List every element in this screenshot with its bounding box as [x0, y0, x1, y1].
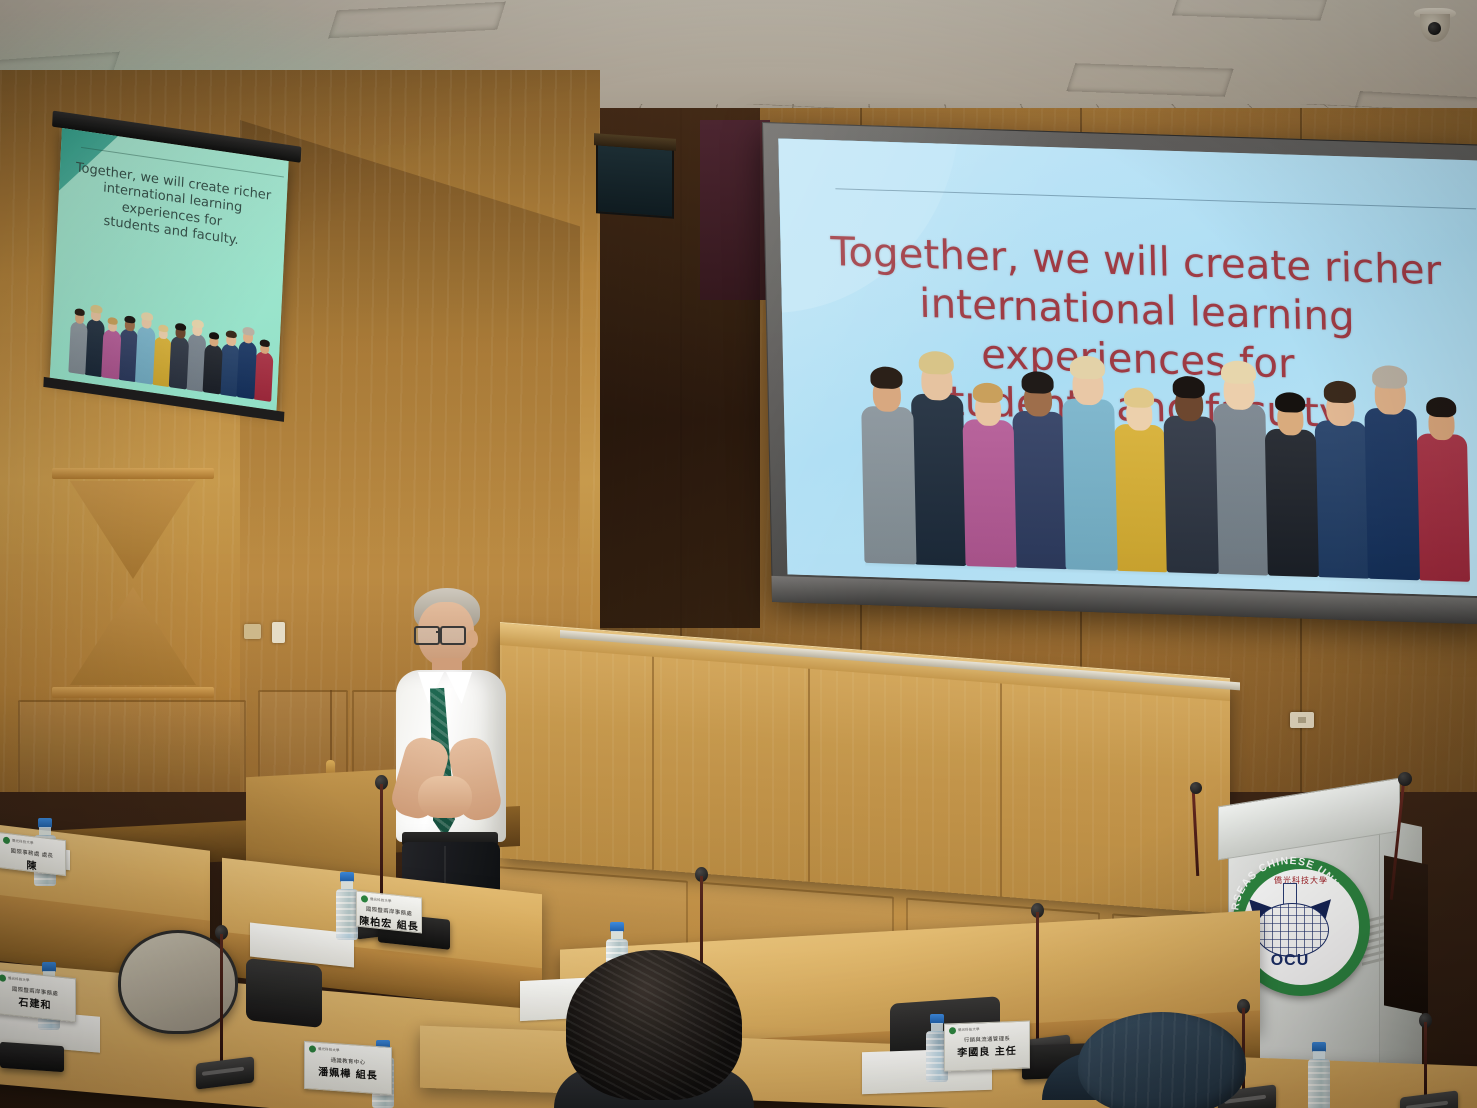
placard-org: 僑光科技大學 — [958, 1026, 980, 1032]
placard-org: 僑光科技大學 — [370, 896, 392, 903]
name-placard: 僑光科技大學 國際暨兩岸事務處 陳柏宏 組長 — [356, 891, 422, 934]
desk-microphone[interactable] — [1400, 1020, 1458, 1108]
lecture-hall-photo: Together, we will create richer internat… — [0, 0, 1477, 1108]
placard-org: 僑光科技大學 — [12, 838, 34, 846]
wall-switch[interactable] — [272, 622, 285, 643]
placard-org: 僑光科技大學 — [8, 975, 30, 982]
wall-outlet — [1290, 712, 1314, 728]
slide-group-photo — [862, 385, 1470, 582]
slide-photo-person — [99, 315, 124, 380]
device-case[interactable] — [0, 1042, 64, 1072]
slide-photo-person — [235, 325, 260, 400]
ceiling-light-panel — [1172, 0, 1328, 21]
desk-microphone[interactable] — [196, 930, 254, 1086]
slide-photo-person — [167, 320, 192, 390]
placard-org: 僑光科技大學 — [318, 1046, 340, 1053]
chair[interactable] — [246, 958, 322, 1028]
eyeglasses-icon — [414, 626, 466, 642]
side-slide: Together, we will create richer internat… — [50, 128, 289, 411]
attendee-with-cap — [1048, 1012, 1238, 1108]
slide-photo-person — [1357, 361, 1426, 580]
decorative-wall-panel — [62, 468, 204, 698]
name-placard: 僑光科技大學 行銷與流通管理系 李國良 主任 — [944, 1020, 1030, 1071]
slide-photo-person — [854, 362, 923, 565]
slide-photo-person — [133, 310, 158, 385]
podium-microphone-icon — [1398, 772, 1412, 786]
water-bottle[interactable] — [336, 872, 358, 940]
water-bottle[interactable] — [1308, 1042, 1330, 1108]
slide-photo-person — [66, 306, 91, 376]
secondary-projection-screen: Together, we will create richer internat… — [50, 128, 289, 411]
slide-photo-person — [1156, 371, 1225, 574]
name-placard: 僑光科技大學 國際暨兩岸事務處 石建和 — [0, 970, 76, 1023]
slide-photo-person — [1257, 387, 1325, 577]
slide-photo-person — [201, 329, 226, 394]
back-wall-dark-recess — [700, 120, 770, 300]
placard-name: 李國良 主任 — [945, 1042, 1029, 1060]
podium-microphone-icon — [1190, 782, 1202, 794]
presentation-slide: Together, we will create richer internat… — [778, 138, 1477, 596]
attendee-front — [560, 950, 750, 1108]
speaker-hands — [418, 776, 472, 818]
main-projection-screen: Together, we will create richer internat… — [762, 122, 1477, 625]
slide-photo-person — [955, 378, 1023, 568]
security-camera-icon — [1414, 8, 1456, 42]
name-placard: 僑光科技大學 通識教育中心 潘姵樺 組長 — [304, 1041, 392, 1095]
ceiling-light-panel — [1066, 63, 1233, 97]
speaker-ear — [466, 630, 478, 648]
wall-outlet — [244, 624, 261, 639]
wall-loudspeaker — [596, 143, 674, 218]
slide-photo-person — [1055, 352, 1124, 571]
